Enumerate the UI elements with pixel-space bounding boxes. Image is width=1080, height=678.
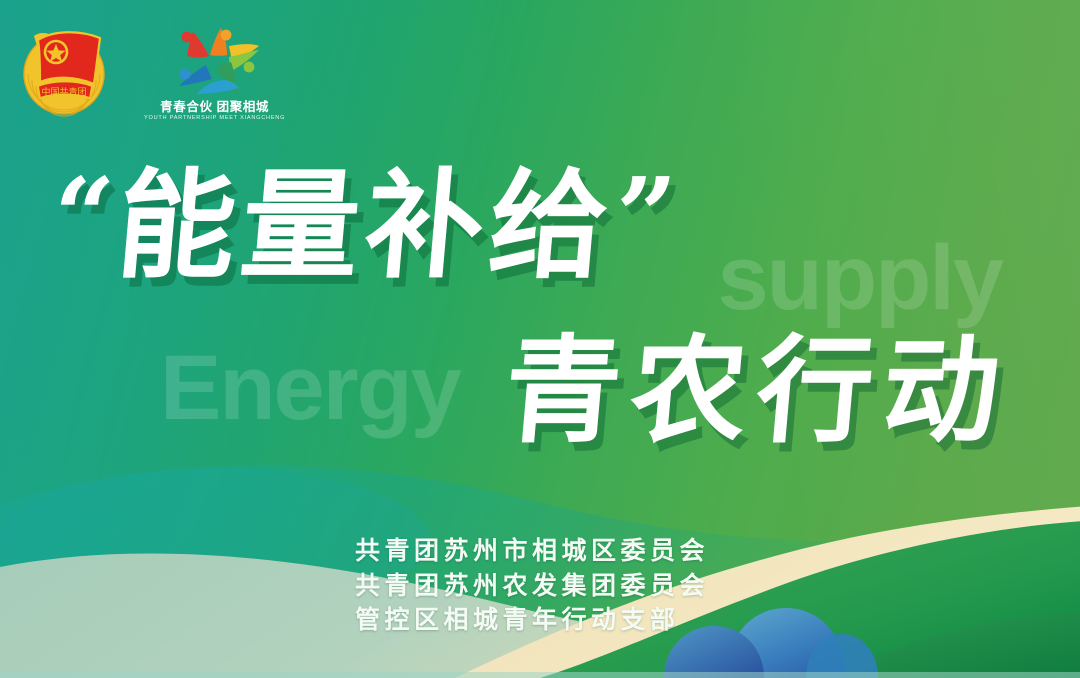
five-person-star-icon <box>163 24 267 98</box>
quote-open: “ <box>47 154 124 277</box>
partner-logo-cn-title: 青春合伙 团聚相城 <box>160 100 269 114</box>
poster-canvas: 中国共青团 青春合伙 <box>0 0 1080 678</box>
title-line-1: “能量补给” <box>47 164 685 285</box>
watermark-supply: supply <box>718 232 1002 324</box>
logo-bar: 中国共青团 青春合伙 <box>14 18 285 121</box>
organization-list: 共青团苏州市相城区委员会 共青团苏州农发集团委员会 管控区相城青年行动支部 <box>355 534 709 638</box>
title-line-2: 青农行动 <box>500 333 1014 449</box>
partner-logo: 青春合伙 团聚相城 YOUTH PARTNERSHIP MEET XIANGCH… <box>144 18 285 121</box>
quote-close: ” <box>609 154 686 277</box>
organization-line: 管控区相城青年行动支部 <box>355 603 709 638</box>
communist-youth-league-emblem-icon: 中国共青团 <box>14 18 114 118</box>
partner-logo-en-title: YOUTH PARTNERSHIP MEET XIANGCHENG <box>144 115 285 121</box>
title-line-1-text: 能量补给 <box>112 156 620 295</box>
emblem-banner-text: 中国共青团 <box>41 86 86 98</box>
watermark-energy: Energy <box>160 342 460 434</box>
organization-line: 共青团苏州农发集团委员会 <box>355 569 709 604</box>
organization-line: 共青团苏州市相城区委员会 <box>355 534 709 569</box>
